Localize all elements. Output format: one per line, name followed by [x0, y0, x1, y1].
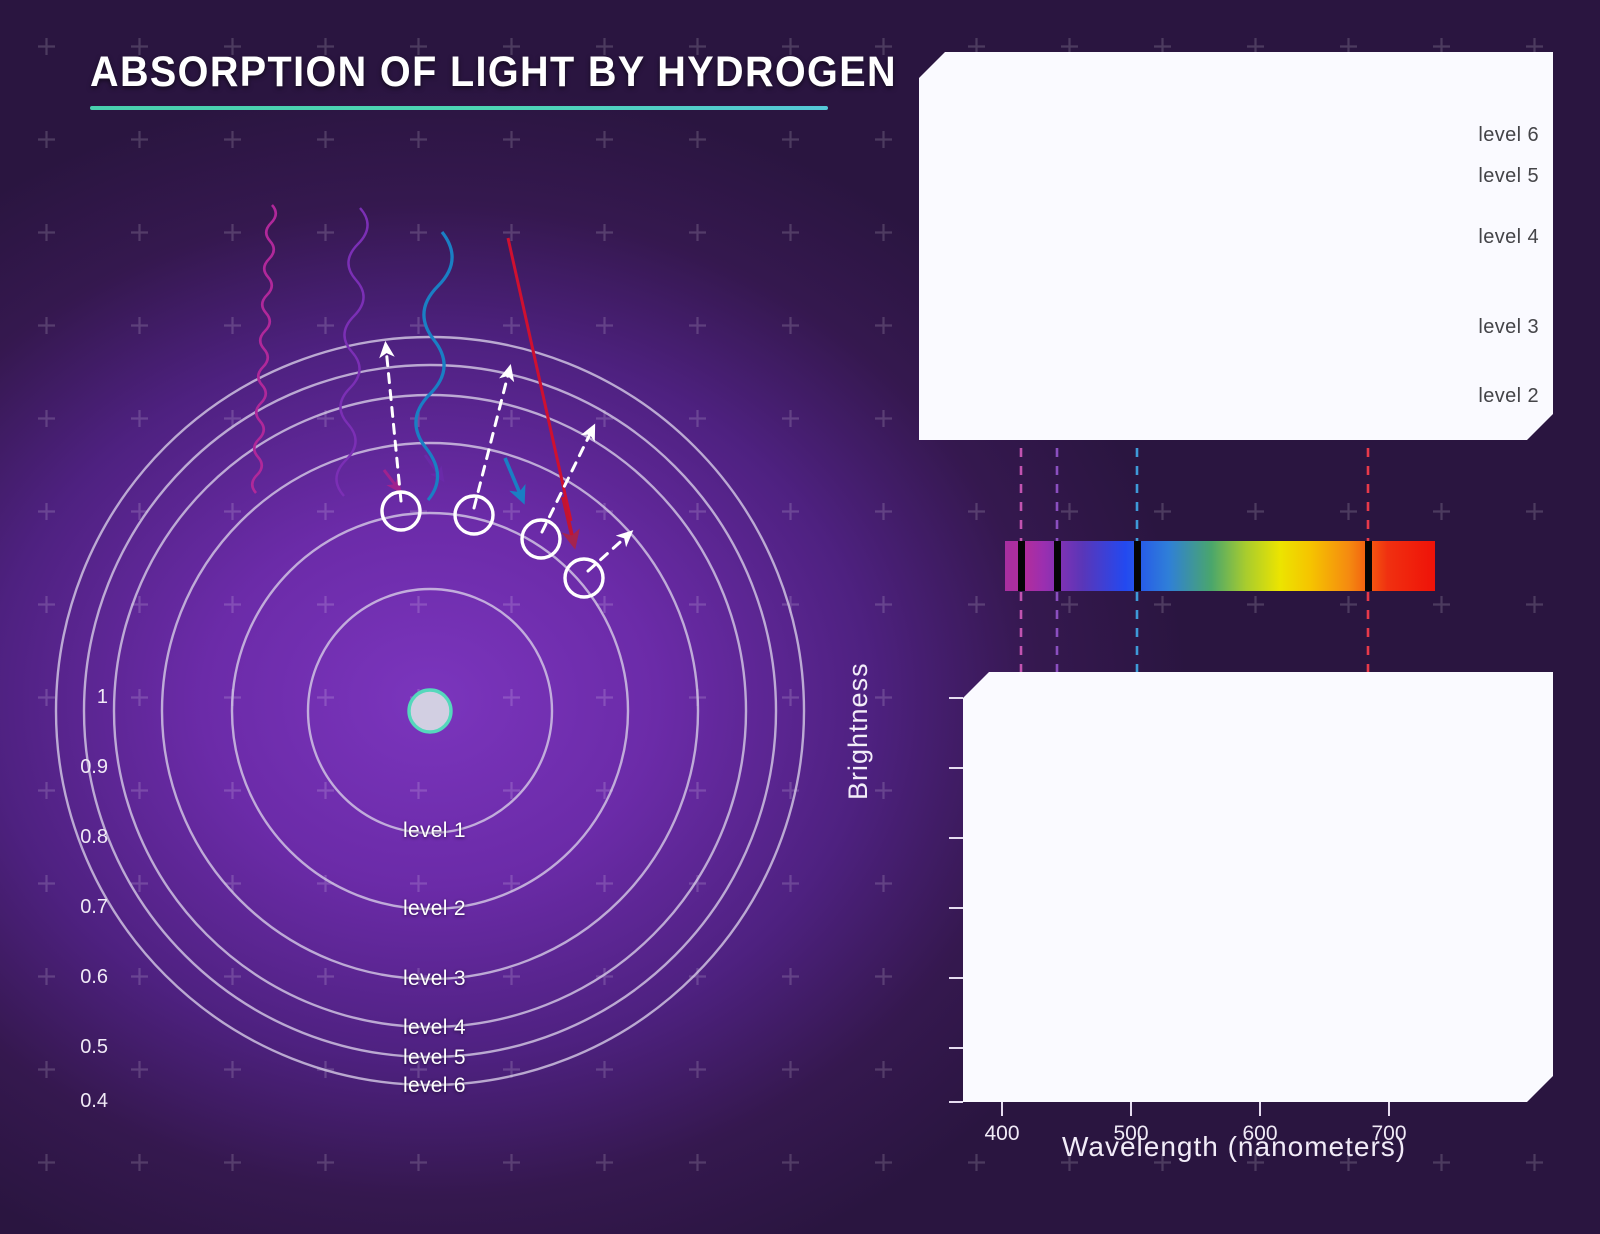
electron-4 [565, 559, 603, 597]
violet-photon-arrow [384, 470, 397, 487]
ytick-label-0-5: 0.5 [80, 1036, 108, 1059]
xtick-label-400: 400 [984, 1122, 1019, 1146]
purple-photon-wave [336, 208, 367, 496]
transition-arrow-red [588, 535, 628, 571]
ytick-label-0-4: 0.4 [80, 1090, 108, 1113]
panel-level-label-2: level 2 [1478, 385, 1539, 408]
orbit-label-level-5: level 5 [403, 1046, 466, 1070]
transition-arrow-violet [386, 348, 401, 501]
orbit-label-level-3: level 3 [403, 967, 466, 991]
orbit-label-level-1: level 1 [403, 819, 466, 843]
orbit-label-level-4: level 4 [403, 1016, 466, 1040]
chart-y-axis-title: Brightness [843, 662, 874, 800]
panel-level-label-4: level 4 [1478, 226, 1539, 249]
ytick-label-0-6: 0.6 [80, 966, 108, 989]
energy-level-panel: level 6 level 5 level 4 level 3 level 2 [919, 52, 1553, 440]
absorption-line-486nm [1134, 541, 1141, 591]
panel-level-label-5: level 5 [1478, 165, 1539, 188]
panel-level-label-6: level 6 [1478, 124, 1539, 147]
absorption-line-434nm [1054, 541, 1061, 591]
orbit-label-level-6: level 6 [403, 1074, 466, 1098]
page-title: ABSORPTION OF LIGHT BY HYDROGEN [90, 48, 897, 97]
transition-arrow-purple [474, 371, 509, 508]
page-title-block: ABSORPTION OF LIGHT BY HYDROGEN [90, 48, 967, 110]
ytick-label-0-8: 0.8 [80, 826, 108, 849]
ytick-label-1: 1 [97, 686, 108, 709]
ytick-label-0-7: 0.7 [80, 896, 108, 919]
red-photon-ray [508, 238, 571, 521]
ytick-label-0-9: 0.9 [80, 756, 108, 779]
panel-level-label-3: level 3 [1478, 316, 1539, 339]
brightness-chart-panel [963, 672, 1553, 1102]
title-underline [90, 106, 828, 110]
visible-spectrum-bar [1005, 541, 1435, 591]
infographic-root: ABSORPTION OF LIGHT BY HYDROGEN [0, 0, 1600, 1234]
nucleus [409, 690, 451, 732]
violet-photon-wave [252, 205, 276, 493]
electrons [382, 492, 603, 597]
blue-photon-arrow [505, 458, 521, 496]
absorption-line-656nm [1365, 541, 1372, 591]
chart-x-axis-title: Wavelength (nanometers) [1062, 1131, 1406, 1163]
absorption-line-410nm [1018, 541, 1025, 591]
orbit-label-level-2: level 2 [403, 897, 466, 921]
